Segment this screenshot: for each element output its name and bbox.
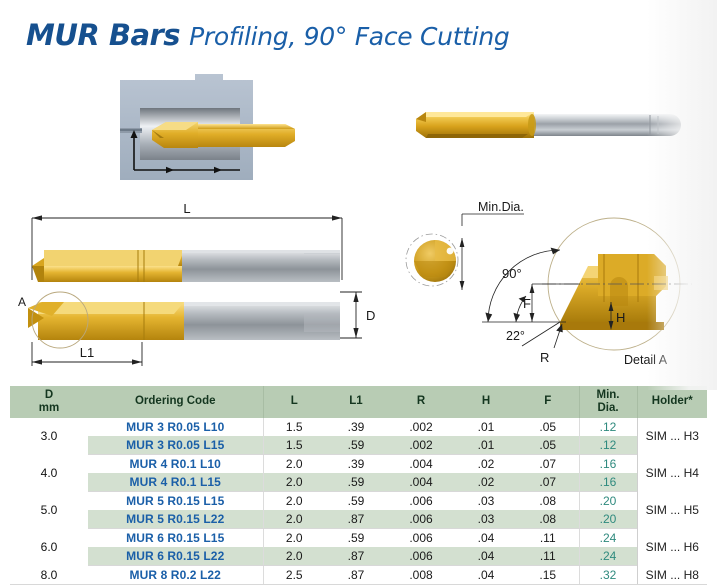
col-header-min-dia: Min. Dia. [579,386,637,418]
cell-l: 2.0 [263,547,325,566]
cell-ordering-code: MUR 5 R0.15 L22 [88,510,263,529]
col-header-d-bottom: mm [39,402,59,414]
cell-r: .002 [387,418,455,436]
cell-l: 1.5 [263,436,325,455]
col-header-d: D mm [10,386,88,418]
specification-table: D mm Ordering Code L L1 R H F Min. Dia. … [10,386,707,585]
cell-l: 2.0 [263,455,325,474]
cell-h: .04 [455,547,517,566]
angle-label-22: 22° [506,329,525,343]
col-header-l: L [263,386,325,418]
cell-ordering-code: MUR 4 R0.1 L10 [88,455,263,474]
table-row: MUR 4 R0.1 L152.0.59.004.02.07.16 [10,473,707,492]
cell-ordering-code: MUR 8 R0.2 L22 [88,566,263,585]
angle-label-90: 90° [502,266,522,281]
cell-r: .006 [387,510,455,529]
cell-l1: .59 [325,436,387,455]
cell-f: .11 [517,529,579,548]
min-dia-end-view [406,234,458,286]
dim-label-D: D [366,308,375,323]
col-header-h: H [455,386,517,418]
table-row: MUR 3 R0.05 L151.5.59.002.01.05.12 [10,436,707,455]
cell-ordering-code: MUR 6 R0.15 L22 [88,547,263,566]
col-header-l1: L1 [325,386,387,418]
cell-diameter: 4.0 [10,455,88,492]
table-row: 5.0MUR 5 R0.15 L152.0.59.006.03.08.20SIM… [10,492,707,511]
cell-l: 2.0 [263,510,325,529]
table-row: 6.0MUR 6 R0.15 L152.0.59.006.04.11.24SIM… [10,529,707,548]
cell-holder: SIM ... H3 [637,418,707,455]
cell-h: .02 [455,455,517,474]
cell-min-dia: .12 [579,418,637,436]
cell-h: .01 [455,436,517,455]
cell-l1: .39 [325,455,387,474]
dim-label-L: L [183,201,190,216]
cell-r: .004 [387,473,455,492]
cell-min-dia: .32 [579,566,637,585]
cell-holder: SIM ... H8 [637,566,707,585]
dim-label-L1: L1 [80,345,94,360]
cell-h: .04 [455,566,517,585]
cell-diameter: 3.0 [10,418,88,455]
bar-side-view [28,302,340,340]
dim-label-min-dia: Min.Dia. [478,200,524,214]
cell-l1: .87 [325,547,387,566]
col-header-d-top: D [45,389,53,401]
dimension-drawing: L [4,196,380,372]
table-body: 3.0MUR 3 R0.05 L101.5.39.002.01.05.12SIM… [10,418,707,585]
table-row: 3.0MUR 3 R0.05 L101.5.39.002.01.05.12SIM… [10,418,707,436]
cell-l1: .59 [325,473,387,492]
cell-r: .006 [387,492,455,511]
detail-a-drawing: Min.Dia. 90° [392,188,714,370]
table-row: 8.0MUR 8 R0.2 L222.5.87.008.04.15.32SIM … [10,566,707,585]
page-title: MUR BarsProfiling, 90° Face Cutting [26,18,509,52]
dimension-line-D [340,292,362,338]
cell-f: .11 [517,547,579,566]
cell-l1: .39 [325,418,387,436]
cell-h: .02 [455,473,517,492]
catalog-page: MUR BarsProfiling, 90° Face Cutting [0,0,717,587]
table-row: 4.0MUR 4 R0.1 L102.0.39.004.02.07.16SIM … [10,455,707,474]
cell-l: 1.5 [263,418,325,436]
cell-l1: .87 [325,510,387,529]
cell-r: .008 [387,566,455,585]
cell-min-dia: .16 [579,473,637,492]
cell-f: .05 [517,418,579,436]
cell-l: 2.0 [263,529,325,548]
cell-l1: .87 [325,566,387,585]
cell-ordering-code: MUR 3 R0.05 L15 [88,436,263,455]
cell-l1: .59 [325,529,387,548]
bar-in-bore-illustration [100,72,300,187]
dim-label-H: H [616,310,625,325]
title-subtitle: Profiling, 90° Face Cutting [189,22,509,51]
col-header-f: F [517,386,579,418]
col-header-r: R [387,386,455,418]
cell-min-dia: .20 [579,510,637,529]
bar-top-view [32,250,340,282]
cell-min-dia: .24 [579,529,637,548]
cell-r: .006 [387,547,455,566]
table-header-row: D mm Ordering Code L L1 R H F Min. Dia. … [10,386,707,418]
dim-label-A: A [18,295,26,309]
cell-h: .03 [455,510,517,529]
cell-diameter: 5.0 [10,492,88,529]
cell-holder: SIM ... H6 [637,529,707,566]
cell-l1: .59 [325,492,387,511]
dim-label-F: F [523,296,531,311]
cell-l: 2.0 [263,492,325,511]
col-header-holder: Holder* [637,386,707,418]
cell-ordering-code: MUR 6 R0.15 L15 [88,529,263,548]
col-header-min-dia-bottom: Dia. [597,402,618,414]
cell-diameter: 6.0 [10,529,88,566]
cell-l: 2.0 [263,473,325,492]
table-row: MUR 5 R0.15 L222.0.87.006.03.08.20 [10,510,707,529]
cell-f: .07 [517,473,579,492]
cell-r: .004 [387,455,455,474]
cell-r: .006 [387,529,455,548]
cell-f: .05 [517,436,579,455]
cell-h: .04 [455,529,517,548]
cell-min-dia: .16 [579,455,637,474]
cell-ordering-code: MUR 5 R0.15 L15 [88,492,263,511]
cell-f: .08 [517,510,579,529]
cell-holder: SIM ... H5 [637,492,707,529]
cell-h: .03 [455,492,517,511]
col-header-min-dia-top: Min. [597,389,620,401]
mur-bar-photo [412,100,692,152]
table-row: MUR 6 R0.15 L222.0.87.006.04.11.24 [10,547,707,566]
cell-min-dia: .12 [579,436,637,455]
dim-label-R: R [540,350,549,365]
cell-ordering-code: MUR 4 R0.1 L15 [88,473,263,492]
cell-diameter: 8.0 [10,566,88,585]
insert-geometry [560,254,668,330]
cell-l: 2.5 [263,566,325,585]
cell-f: .08 [517,492,579,511]
cell-r: .002 [387,436,455,455]
col-header-ordering-code: Ordering Code [88,386,263,418]
detail-a-caption: Detail A [624,353,668,367]
cell-f: .07 [517,455,579,474]
title-main: MUR Bars [26,18,180,52]
cell-min-dia: .20 [579,492,637,511]
cell-holder: SIM ... H4 [637,455,707,492]
cell-h: .01 [455,418,517,436]
cell-f: .15 [517,566,579,585]
cell-ordering-code: MUR 3 R0.05 L10 [88,418,263,436]
angle-90-arc [488,250,560,322]
cell-min-dia: .24 [579,547,637,566]
